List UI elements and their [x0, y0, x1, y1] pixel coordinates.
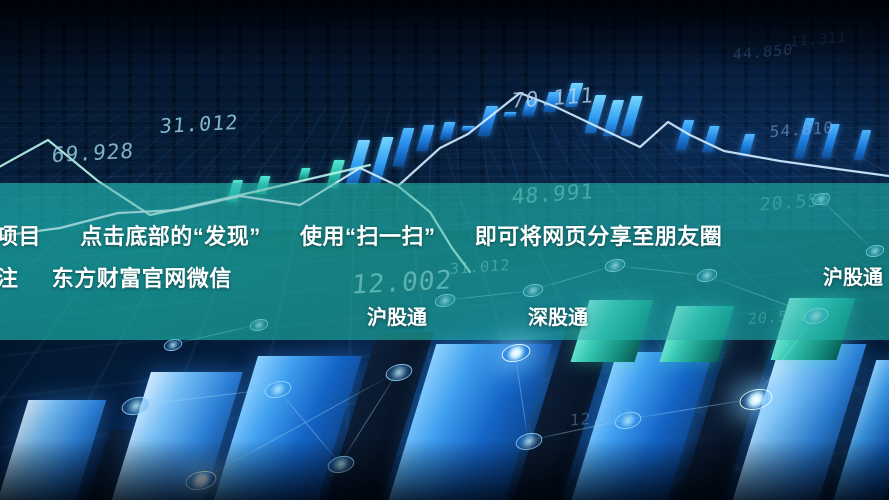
share-instruction-line-1: 项目 点击底部的“发现” 使用“扫一扫” 即可将网页分享至朋友圈	[0, 219, 722, 251]
share-instruction-overlay: 项目 点击底部的“发现” 使用“扫一扫” 即可将网页分享至朋友圈 注 东方财富官…	[0, 183, 889, 340]
share-instruction-line-2: 注 东方财富官网微信	[0, 261, 232, 293]
hk-connect-label-shenzhen: 深股通	[528, 301, 588, 330]
share-note-prefix: 注	[0, 266, 19, 291]
hk-connect-label-right: 沪股通	[823, 261, 883, 290]
candlestick-bar	[503, 112, 516, 117]
screenshot-canvas: 31.01269.92870.11144.85011.31154.81048.9…	[0, 0, 889, 500]
share-step-scan: 使用“扫一扫”	[300, 224, 436, 249]
share-step-discover: 点击底部的“发现”	[80, 224, 261, 249]
candlestick-bar	[461, 126, 474, 131]
hk-connect-label-shanghai: 沪股通	[367, 301, 427, 330]
share-step-project: 项目	[0, 224, 41, 249]
share-note-account: 东方财富官网微信	[52, 266, 232, 291]
share-step-moments: 即可将网页分享至朋友圈	[475, 224, 723, 249]
